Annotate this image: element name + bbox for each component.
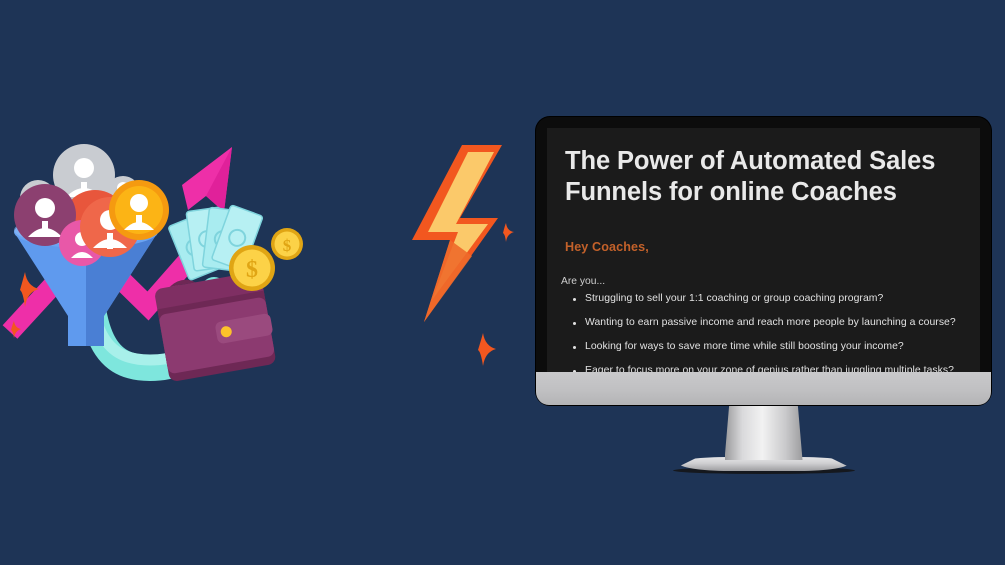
monitor-bezel: The Power of Automated Sales Funnels for… [536,117,991,405]
svg-text:$: $ [283,236,292,255]
slide-intro-line: Are you... [561,276,605,287]
sparkle-icon-right [503,223,514,242]
slide-bullet-item: Wanting to earn passive income and reach… [585,318,980,328]
coin-small-icon: $ [271,228,303,260]
sparkle-icon-bottom-right [478,333,496,366]
slide-canvas: $ $ [0,0,1005,565]
slide-bullet-list: Struggling to sell your 1:1 coaching or … [561,294,980,382]
avatar-bubble-orange [109,180,169,240]
slide-bullet-item: Struggling to sell your 1:1 coaching or … [585,294,980,304]
monitor-chin-bezel [536,372,991,405]
presentation-slide: The Power of Automated Sales Funnels for… [547,128,980,382]
coin-large-icon: $ [229,245,275,291]
slide-title: The Power of Automated Sales Funnels for… [565,146,955,208]
monitor-screen: The Power of Automated Sales Funnels for… [547,128,980,382]
desktop-monitor: The Power of Automated Sales Funnels for… [536,117,991,407]
slide-bullet-item: Looking for ways to save more time while… [585,342,980,352]
slide-greeting: Hey Coaches, [565,240,649,254]
lightning-bolt-icon [412,145,502,322]
svg-text:$: $ [246,257,258,283]
monitor-stand-neck [725,405,803,460]
sales-funnel-illustration: $ $ [0,120,520,460]
